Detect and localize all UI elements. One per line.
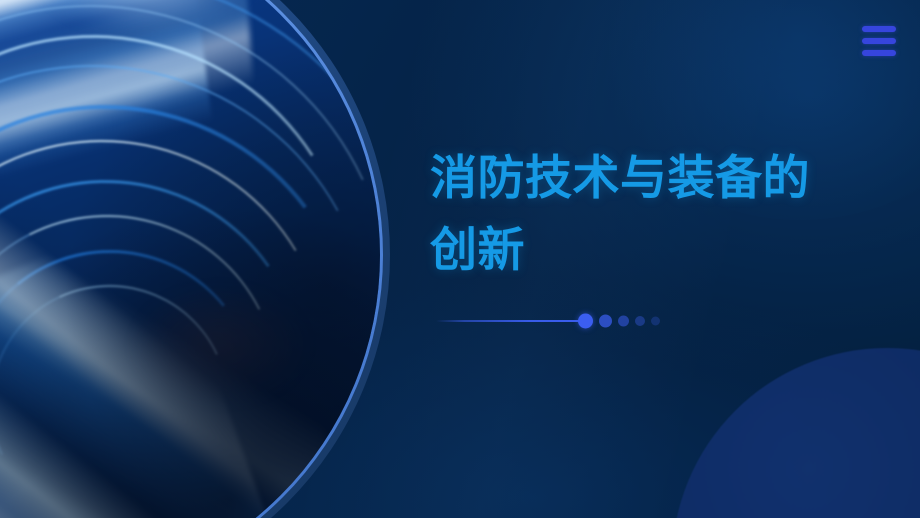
progress-line [436, 320, 592, 322]
abstract-blue-vortex-image [0, 0, 380, 518]
presentation-slide: 消防技术与装备的创新 [0, 0, 920, 518]
hamburger-bar-1 [862, 26, 896, 32]
progress-dot-1[interactable] [578, 314, 593, 329]
hamburger-menu-icon[interactable] [858, 20, 900, 62]
hamburger-bar-3 [862, 50, 896, 56]
artwork-vignette [0, 0, 380, 518]
artwork-base-gradient [0, 0, 380, 518]
hamburger-bar-2 [862, 38, 896, 44]
progress-dot-5[interactable] [651, 317, 660, 326]
progress-dot-4[interactable] [635, 316, 645, 326]
slide-title: 消防技术与装备的创新 [430, 142, 850, 286]
progress-dot-3[interactable] [618, 316, 629, 327]
progress-dot-2[interactable] [599, 315, 612, 328]
slide-progress-decoration [430, 313, 670, 329]
